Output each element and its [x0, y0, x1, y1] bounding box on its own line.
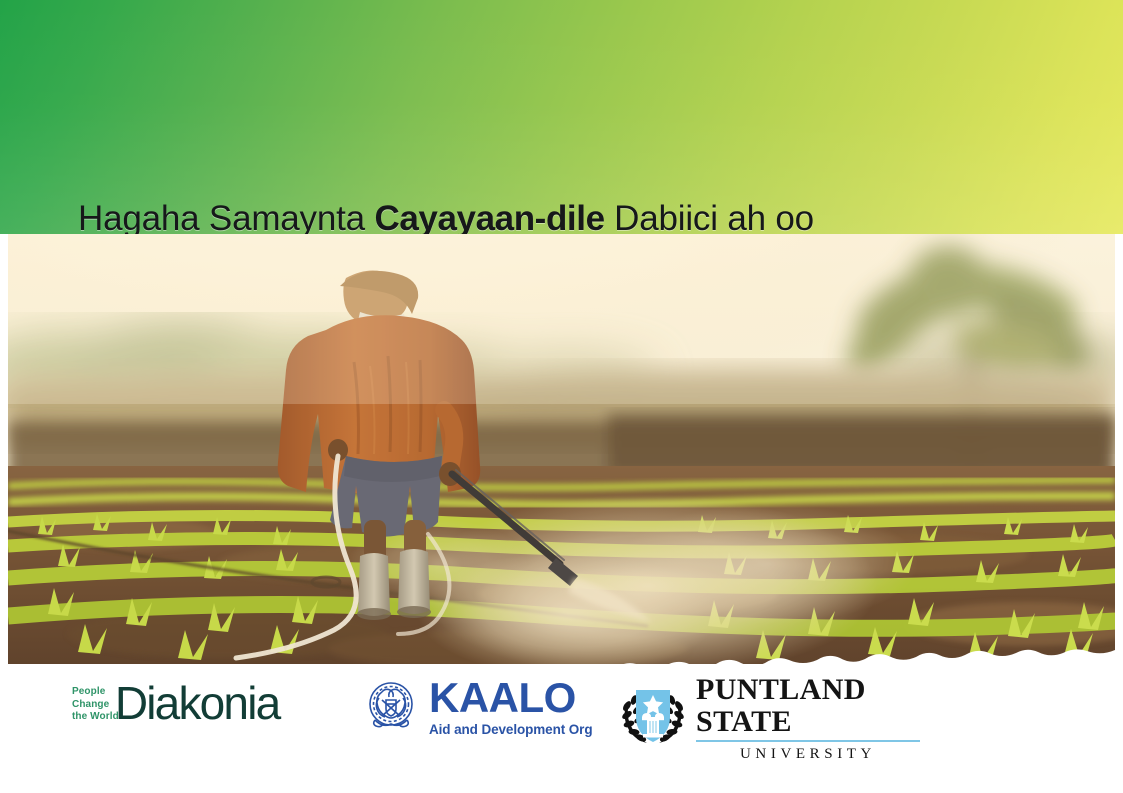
header-banner: Hagaha Samaynta Cayayaan-dile Dabiici ah… — [0, 0, 1123, 234]
hero-photo — [8, 234, 1115, 664]
diakonia-tagline-line-3: the World — [72, 711, 119, 724]
hero-photo-illustration — [8, 234, 1115, 664]
diakonia-tagline: People Change the World — [72, 682, 119, 724]
kaalo-subtitle: Aid and Development Org — [429, 721, 592, 739]
kaalo-emblem-icon — [362, 676, 420, 739]
psu-name-line-2: UNIVERSITY — [696, 745, 920, 763]
title-line1-highlight: Cayayaan-dile — [374, 199, 604, 234]
psu-shield-crest-icon — [620, 684, 686, 751]
psu-divider-rule — [696, 740, 920, 742]
poster-root: Hagaha Samaynta Cayayaan-dile Dabiici ah… — [0, 0, 1123, 793]
psu-name-line-1: PUNTLAND STATE — [696, 674, 920, 738]
diakonia-tagline-line-1: People — [72, 686, 119, 699]
logo-kaalo: KAALO Aid and Development Org — [362, 664, 597, 793]
diakonia-tagline-line-2: Change — [72, 699, 119, 712]
logo-puntland-state-university: PUNTLAND STATE UNIVERSITY — [620, 664, 920, 793]
kaalo-wordmark: KAALO — [429, 677, 592, 719]
title-line-1: Hagaha Samaynta Cayayaan-dile Dabiici ah… — [78, 192, 1058, 234]
title-line1-part-a: Hagaha Samaynta — [78, 199, 374, 234]
page-title: Hagaha Samaynta Cayayaan-dile Dabiici ah… — [78, 86, 1058, 234]
title-line1-part-b: Dabiici ah oo — [605, 199, 814, 234]
diakonia-wordmark: Diakonia — [115, 678, 280, 728]
logo-diakonia: People Change the World Diakonia — [72, 664, 302, 793]
partner-logo-strip: People Change the World Diakonia — [0, 664, 1123, 793]
